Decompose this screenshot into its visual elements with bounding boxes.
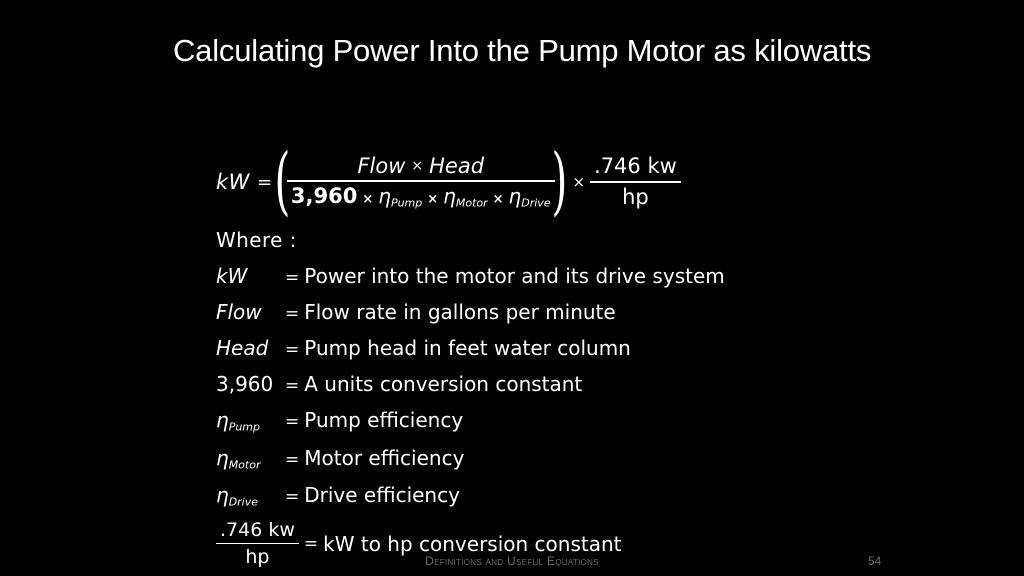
numerator-flow-term: Flow — [357, 154, 405, 178]
definition-text: kW to hp conversion constant — [323, 532, 621, 556]
definition-row: Flow=Flow rate in gallons per minute — [216, 300, 916, 324]
definition-row: Head=Pump head in feet water column — [216, 336, 916, 360]
fraction-numerator: Flow×Head — [353, 154, 488, 179]
eta-motor-glyph: η — [443, 184, 456, 208]
definition-text: Flow rate in gallons per minute — [304, 300, 615, 324]
numerator-head-term: Head — [429, 154, 484, 178]
fraction-denominator: 3,960×ηPump×ηMotor×ηDrive — [287, 184, 555, 210]
definition-equals-sign: = — [280, 450, 304, 470]
definition-equals-sign: = — [280, 304, 304, 324]
conversion-numerator: .746 kw — [590, 154, 681, 179]
definition-term-subscript: Motor — [229, 458, 261, 471]
numerator-times-icon: × — [405, 158, 429, 174]
definition-term: ηDrive — [216, 483, 280, 509]
denominator-times-icon-2: × — [422, 192, 443, 207]
conversion-denominator: hp — [618, 185, 653, 210]
eta-pump-glyph: η — [378, 184, 391, 208]
definition-term: ηPump — [216, 408, 280, 434]
definition-equals-sign: = — [280, 487, 304, 507]
definition-row: kW=Power into the motor and its drive sy… — [216, 264, 916, 288]
definition-text: Power into the motor and its drive syste… — [304, 264, 725, 288]
definition-equals-sign: = — [280, 412, 304, 432]
definition-text: Pump efficiency — [304, 408, 463, 432]
definition-text: Pump head in feet water column — [304, 336, 631, 360]
definition-term-subscript: Drive — [229, 496, 258, 509]
definition-equals-sign: = — [280, 340, 304, 360]
left-parenthesis: ( — [275, 159, 291, 205]
slide-canvas: Calculating Power Into the Pump Motor as… — [0, 0, 1024, 576]
outer-times-icon: × — [567, 173, 590, 191]
eta-drive-symbol: ηDrive — [509, 184, 551, 208]
eta-pump-subscript: Pump — [391, 196, 422, 209]
definition-term: ηMotor — [216, 446, 280, 472]
eta-motor-symbol: ηMotor — [443, 184, 487, 208]
conversion-constant-numerator: .746 kw — [216, 519, 299, 541]
definition-text: Motor efficiency — [304, 446, 464, 470]
fraction-bar — [287, 180, 555, 182]
right-parenthesis: ) — [551, 159, 567, 205]
conversion-constant-bar — [216, 543, 299, 545]
definition-term: 3,960 — [216, 372, 280, 396]
definition-term: Flow — [216, 300, 280, 324]
definition-term-glyph: η — [216, 408, 229, 432]
denominator-times-icon-3: × — [488, 192, 509, 207]
equation-equals-sign: = — [257, 172, 272, 193]
definition-row: ηPump=Pump efficiency — [216, 408, 916, 434]
main-fraction: Flow×Head 3,960×ηPump×ηMotor×ηDrive — [287, 154, 555, 211]
definition-equals-sign: = — [280, 268, 304, 288]
definition-row: 3,960=A units conversion constant — [216, 372, 916, 396]
definition-term-glyph: η — [216, 483, 229, 507]
definition-term-subscript: Pump — [229, 421, 260, 434]
definition-row: ηDrive=Drive efficiency — [216, 483, 916, 509]
equation-lhs: kW — [216, 170, 250, 194]
definition-term: kW — [216, 264, 280, 288]
page-title: Calculating Power Into the Pump Motor as… — [173, 30, 873, 71]
eta-drive-subscript: Drive — [521, 196, 550, 209]
conversion-fraction: .746 kw hp — [590, 154, 681, 209]
denominator-constant: 3,960 — [291, 184, 357, 208]
eta-drive-glyph: η — [509, 184, 522, 208]
definition-text: Drive efficiency — [304, 483, 460, 507]
eta-pump-symbol: ηPump — [378, 184, 422, 208]
definition-term-glyph: η — [216, 446, 229, 470]
definition-term: Head — [216, 336, 280, 360]
definition-equals-sign: = — [280, 376, 304, 396]
definition-text: A units conversion constant — [304, 372, 582, 396]
slide-body: kW = ( Flow×Head 3,960×ηPump×ηMotor×ηDri… — [216, 146, 916, 569]
where-heading: Where : — [216, 228, 916, 252]
definition-equals-sign: = — [299, 534, 323, 554]
conversion-fraction-bar — [590, 181, 681, 183]
definition-row: ηMotor=Motor efficiency — [216, 446, 916, 472]
main-equation: kW = ( Flow×Head 3,960×ηPump×ηMotor×ηDri… — [216, 146, 916, 218]
page-number: 54 — [868, 554, 881, 568]
definition-list: kW=Power into the motor and its drive sy… — [216, 264, 916, 509]
eta-motor-subscript: Motor — [456, 196, 488, 209]
denominator-times-icon-1: × — [357, 192, 378, 207]
